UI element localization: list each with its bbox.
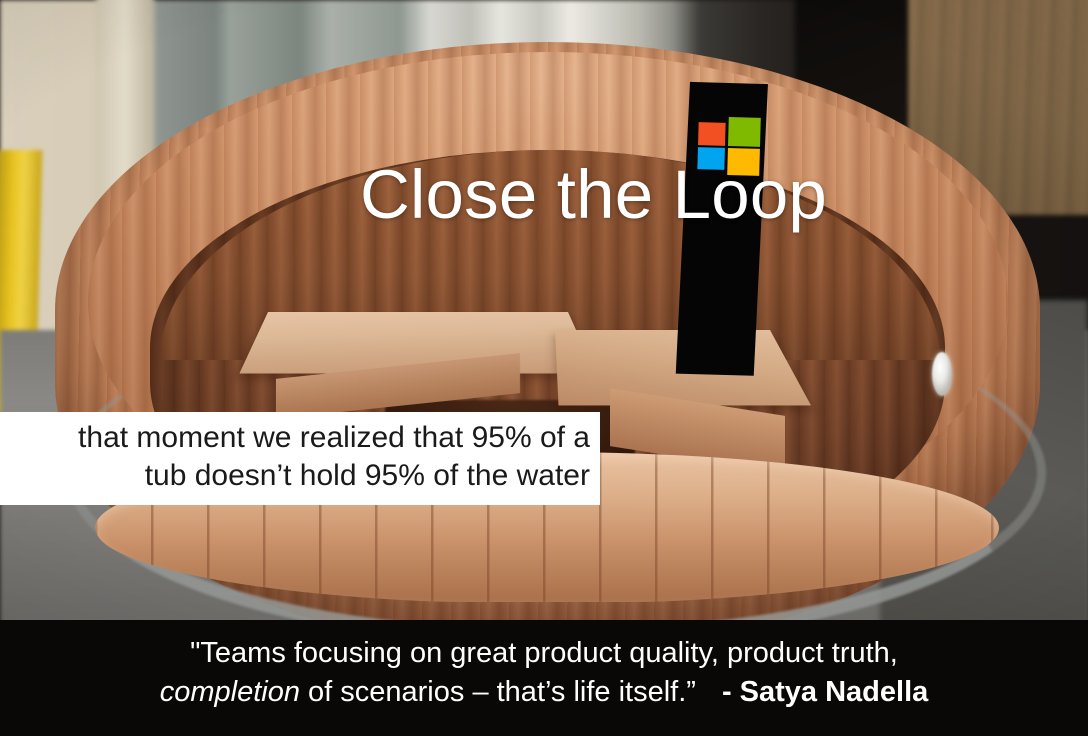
quote-attribution: - Satya Nadella [722, 676, 928, 708]
quote-line-2-rest: of scenarios – that’s life itself.” [300, 676, 696, 708]
quote-line-2: completion of scenarios – that’s life it… [24, 673, 1064, 712]
windows-logo-pane-red [698, 122, 726, 146]
quote-line-1: "Teams focusing on great product quality… [24, 634, 1064, 673]
presentation-slide: Close the Loop that moment we realized t… [0, 0, 1088, 736]
slide-title: Close the Loop [360, 160, 827, 229]
quote-emphasis: completion [160, 676, 300, 708]
windows-logo-pane-green [728, 117, 761, 147]
quote-bar: "Teams focusing on great product quality… [0, 620, 1088, 736]
caption-box: that moment we realized that 95% of a tu… [0, 412, 600, 505]
caption-text: that moment we realized that 95% of a tu… [78, 419, 590, 495]
quote-block: "Teams focusing on great product quality… [0, 634, 1088, 711]
tub-jet-fitting [932, 352, 952, 396]
